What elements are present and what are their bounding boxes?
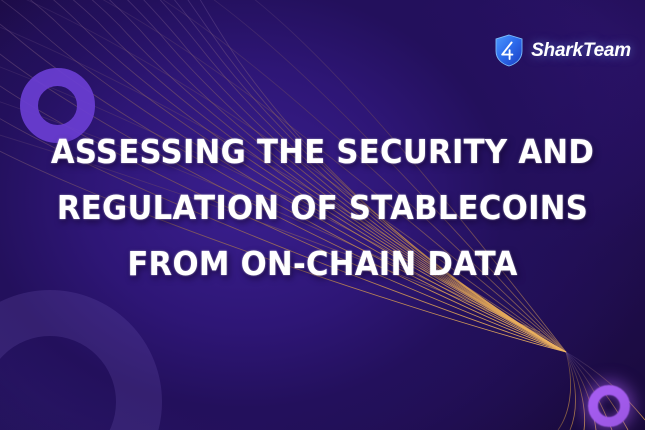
brand-name: SharkTeam xyxy=(531,40,631,62)
brand-logo: SharkTeam xyxy=(494,34,631,67)
poster-title: ASSESSING THE SECURITY AND REGULATION OF… xyxy=(0,124,645,292)
title-line-1: ASSESSING THE SECURITY AND xyxy=(39,124,605,180)
title-line-2: REGULATION OF STABLECOINS xyxy=(39,180,605,236)
decorative-ring-bottom-left xyxy=(0,290,162,430)
decorative-ring-bottom-right xyxy=(588,385,630,427)
title-line-3: FROM ON-CHAIN DATA xyxy=(39,236,605,292)
shark-shield-icon xyxy=(494,34,524,67)
poster-canvas: SharkTeam ASSESSING THE SECURITY AND REG… xyxy=(0,0,645,430)
